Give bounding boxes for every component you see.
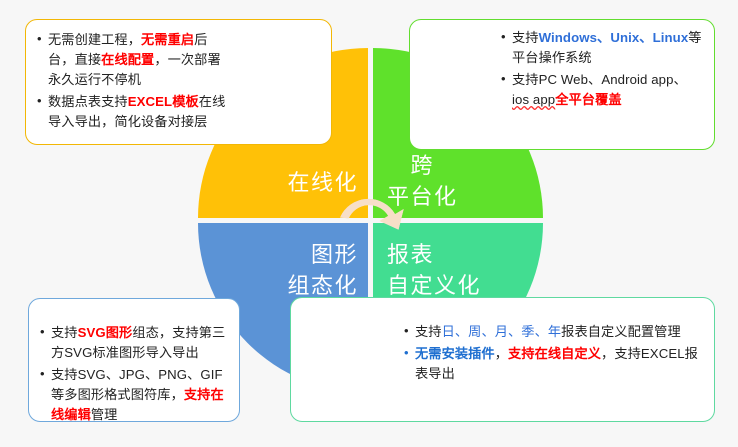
callout-online: 无需创建工程，无需重启后台，直接在线配置，一次部署永久运行不停机 数据点表支持E…: [25, 19, 332, 145]
highlight-text: 日、周、月、季、年: [442, 324, 562, 339]
list-item: 数据点表支持EXCEL模板在线导入导出，简化设备对接层: [36, 92, 231, 132]
highlight-text: Windows、Unix、Linux: [539, 30, 689, 45]
highlight-text: EXCEL模板: [128, 94, 199, 109]
list-item: 支持SVG、JPG、PNG、GIF等多图形格式图符库，支持在线编辑管理: [39, 365, 227, 425]
spellcheck-text: ios app: [512, 92, 555, 107]
quadrant-platform-label: 跨 平台化: [387, 150, 458, 212]
list-item: 支持PC Web、Android app、ios app全平台覆盖: [500, 70, 702, 110]
infographic-canvas: 在线化 跨 平台化 图形 组态化 报表 自定义化: [0, 0, 738, 447]
highlight-text: 无需重启: [141, 32, 194, 47]
quadrant-graphics-label: 图形 组态化: [287, 239, 358, 301]
callout-graphics: 支持SVG图形组态，支持第三方SVG标准图形导入导出 支持SVG、JPG、PNG…: [28, 298, 240, 422]
callout-report-list: 支持日、周、月、季、年报表自定义配置管理 无需安装插件，支持在线自定义，支持EX…: [403, 322, 702, 384]
list-item: 无需创建工程，无需重启后台，直接在线配置，一次部署永久运行不停机: [36, 30, 231, 90]
list-item: 无需安装插件，支持在线自定义，支持EXCEL报表导出: [403, 344, 702, 384]
callout-online-list: 无需创建工程，无需重启后台，直接在线配置，一次部署永久运行不停机 数据点表支持E…: [36, 30, 231, 132]
highlight-text: 支持在线自定义: [508, 346, 601, 361]
callout-graphics-list: 支持SVG图形组态，支持第三方SVG标准图形导入导出 支持SVG、JPG、PNG…: [39, 323, 227, 425]
highlight-text: 全平台覆盖: [555, 92, 621, 107]
list-item: 支持SVG图形组态，支持第三方SVG标准图形导入导出: [39, 323, 227, 363]
quadrant-online-label: 在线化: [287, 167, 358, 198]
highlight-text: 在线配置: [101, 52, 154, 67]
callout-report: 支持日、周、月、季、年报表自定义配置管理 无需安装插件，支持在线自定义，支持EX…: [290, 297, 715, 422]
highlight-text: SVG图形: [78, 325, 133, 340]
highlight-text: 无需安装插件: [415, 346, 495, 361]
quadrant-report-label: 报表 自定义化: [387, 239, 481, 301]
callout-platform-list: 支持Windows、Unix、Linux等平台操作系统 支持PC Web、And…: [500, 28, 702, 110]
callout-platform: 支持Windows、Unix、Linux等平台操作系统 支持PC Web、And…: [409, 19, 715, 150]
list-item: 支持日、周、月、季、年报表自定义配置管理: [403, 322, 702, 342]
list-item: 支持Windows、Unix、Linux等平台操作系统: [500, 28, 702, 68]
